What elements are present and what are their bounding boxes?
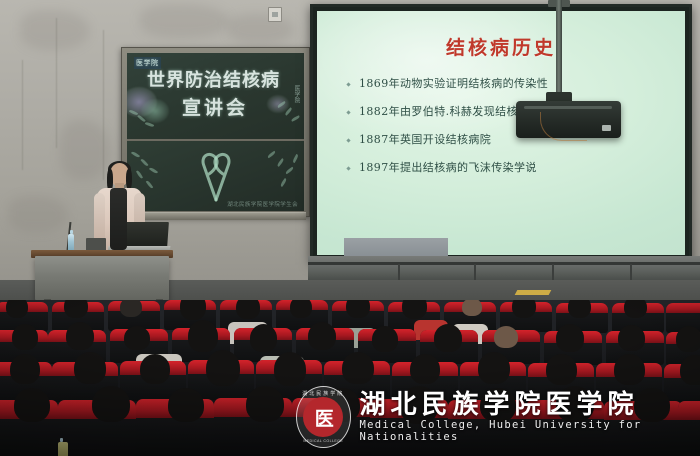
slide-bullet-1: 1869年动物实验证明结核病的传染性 — [345, 77, 611, 91]
stage-rail — [308, 262, 700, 265]
podium — [35, 256, 169, 300]
water-bottle-icon — [68, 234, 74, 251]
slide-bullet-list: 1869年动物实验证明结核病的传染性 1882年由罗伯特.科赫发现结核病病原 1… — [345, 77, 671, 189]
screenshot-root: 医学院 世界防治结核病 宣讲会 医学院 — [0, 0, 700, 456]
awareness-ribbon-icon — [195, 150, 237, 202]
blackboard-side-note: 医学院 — [292, 85, 300, 103]
blackboard-chalk-note: 湖北民族学院医学院学生会 — [227, 200, 298, 208]
chalk-ledge — [125, 212, 306, 220]
blackboard-lower-panel: 湖北民族学院医学院学生会 — [127, 141, 304, 211]
floor-marking — [515, 290, 552, 295]
projector-pole — [556, 0, 562, 96]
audience-area — [0, 300, 700, 456]
blackboard: 医学院 世界防治结核病 宣讲会 医学院 — [121, 47, 310, 217]
blackboard-title-line1: 世界防治结核病 — [147, 66, 297, 92]
slide-title: 结核病历史 — [317, 33, 685, 60]
projection-screen: 结核病历史 1869年动物实验证明结核病的传染性 1882年由罗伯特.科赫发现结… — [310, 4, 692, 262]
blackboard-upper-panel: 医学院 世界防治结核病 宣讲会 医学院 — [127, 53, 304, 141]
wall-socket-icon — [268, 7, 282, 22]
blackboard-title-line2: 宣讲会 — [182, 93, 248, 120]
slide-bullet-4: 1897年提出结核病的飞沫传染学说 — [345, 161, 611, 175]
stage-back-wall — [308, 256, 700, 280]
slide-surface: 结核病历史 1869年动物实验证明结核病的传染性 1882年由罗伯特.科赫发现结… — [317, 11, 685, 255]
projector-led-icon — [602, 125, 611, 131]
